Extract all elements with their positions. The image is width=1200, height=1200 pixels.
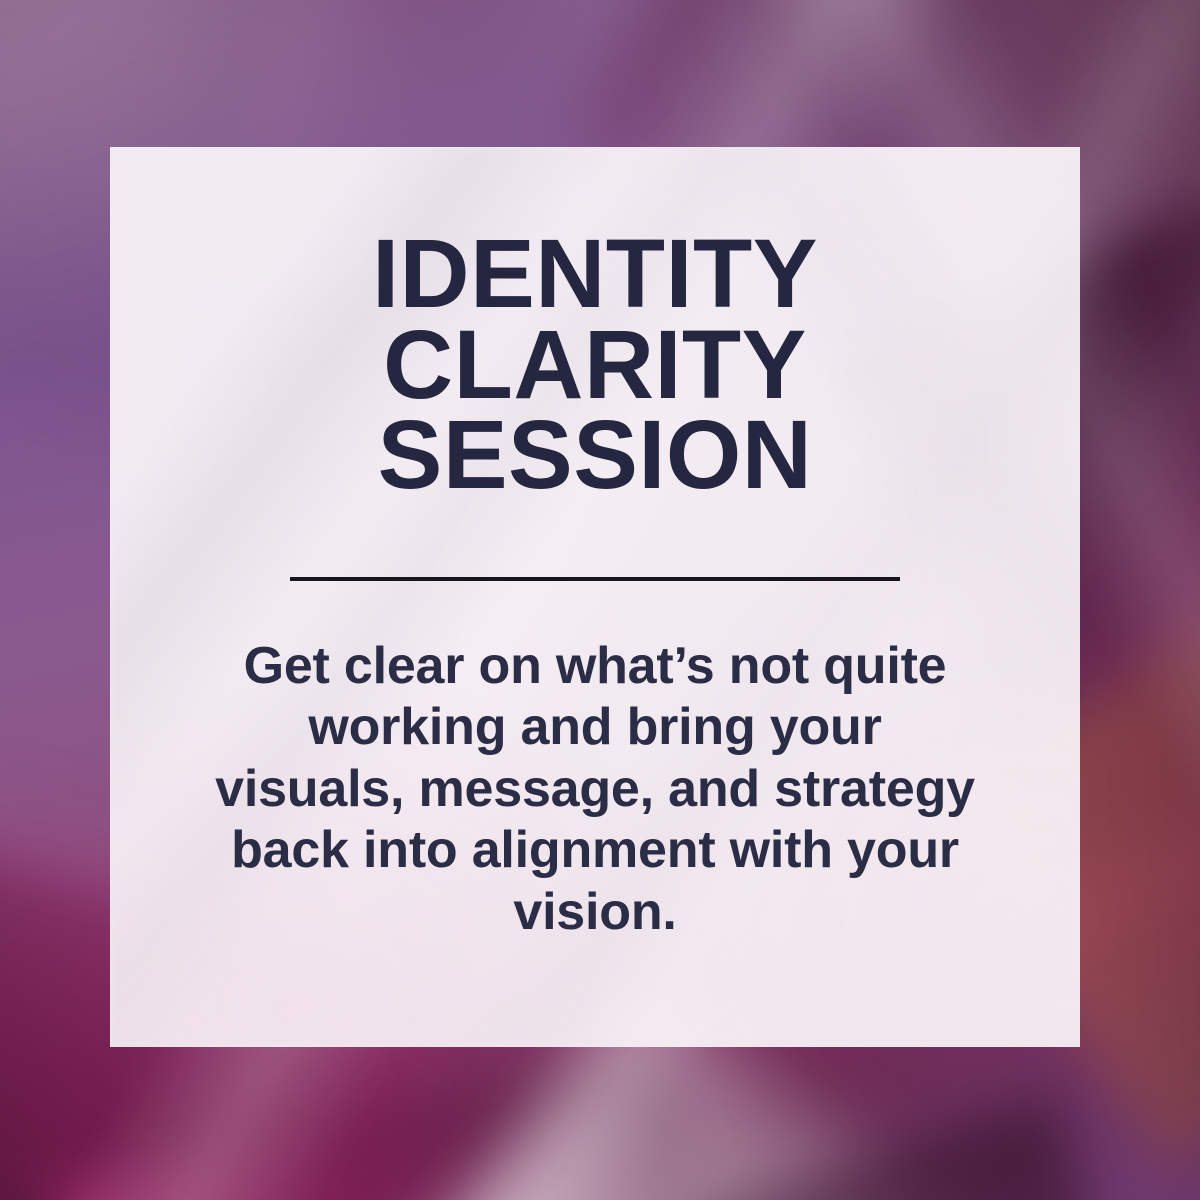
poster-canvas: IDENTITY CLARITY SESSION Get clear on wh… (0, 0, 1200, 1200)
title-line-1: IDENTITY (110, 229, 1080, 320)
page-title: IDENTITY CLARITY SESSION (110, 147, 1080, 501)
crystal-shard (46, 1062, 750, 1200)
title-line-3: SESSION (110, 410, 1080, 501)
card-inner: IDENTITY CLARITY SESSION Get clear on wh… (110, 147, 1080, 1047)
horizontal-divider (290, 577, 900, 581)
body-paragraph: Get clear on what’s not quite working an… (215, 636, 975, 943)
crystal-shard (695, 1099, 1167, 1200)
content-card: IDENTITY CLARITY SESSION Get clear on wh… (110, 147, 1080, 1047)
title-line-2: CLARITY (110, 320, 1080, 411)
